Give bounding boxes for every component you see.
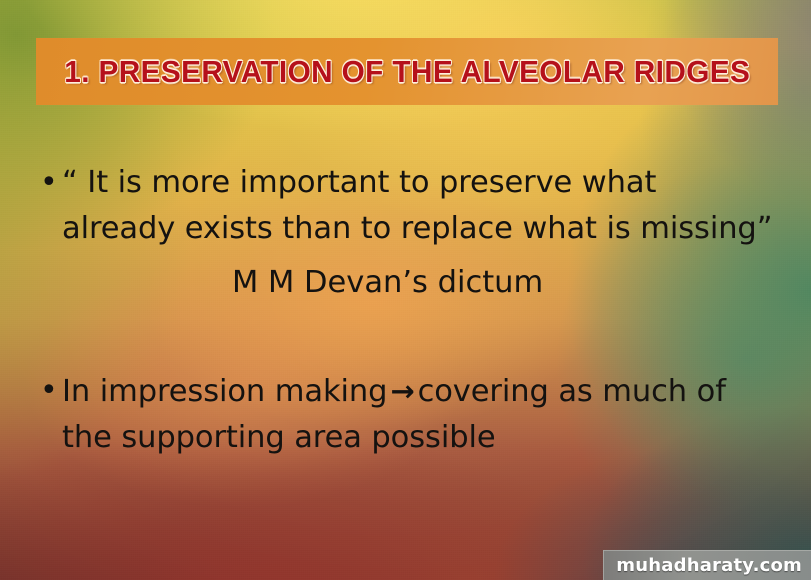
bullet-marker-icon: • xyxy=(36,368,62,414)
watermark-badge: muhadharaty.com xyxy=(603,550,811,580)
quote-attribution: M M Devan’s dictum xyxy=(232,260,784,306)
bullet-marker-icon: • xyxy=(36,160,62,206)
slide-canvas: 1. PRESERVATION OF THE ALVEOLAR RIDGES •… xyxy=(0,0,811,580)
bullet-quote-line-1: “ It is more important to preserve what xyxy=(62,160,784,206)
slide-body: • “ It is more important to preserve wha… xyxy=(36,160,784,461)
bullet-impression-line-1-after-arrow: covering as much of xyxy=(418,374,726,409)
bullet-impression-line-1: In impression making→covering as much of xyxy=(62,368,784,415)
bullet-impression-text: In impression making→covering as much of… xyxy=(62,368,784,461)
bullet-item-impression: • In impression making→covering as much … xyxy=(36,368,784,461)
bullet-impression-line-1-before-arrow: In impression making xyxy=(62,374,387,409)
slide-title: 1. PRESERVATION OF THE ALVEOLAR RIDGES xyxy=(64,54,750,90)
bullet-item-quote: • “ It is more important to preserve wha… xyxy=(36,160,784,252)
bullet-quote-line-2: already exists than to replace what is m… xyxy=(62,206,784,252)
body-spacer xyxy=(36,306,784,368)
watermark-text: muhadharaty.com xyxy=(616,555,802,576)
bullet-quote-text: “ It is more important to preserve what … xyxy=(62,160,784,252)
title-banner: 1. PRESERVATION OF THE ALVEOLAR RIDGES xyxy=(36,38,778,105)
bullet-impression-line-2: the supporting area possible xyxy=(62,415,784,461)
right-arrow-icon: → xyxy=(387,374,417,408)
